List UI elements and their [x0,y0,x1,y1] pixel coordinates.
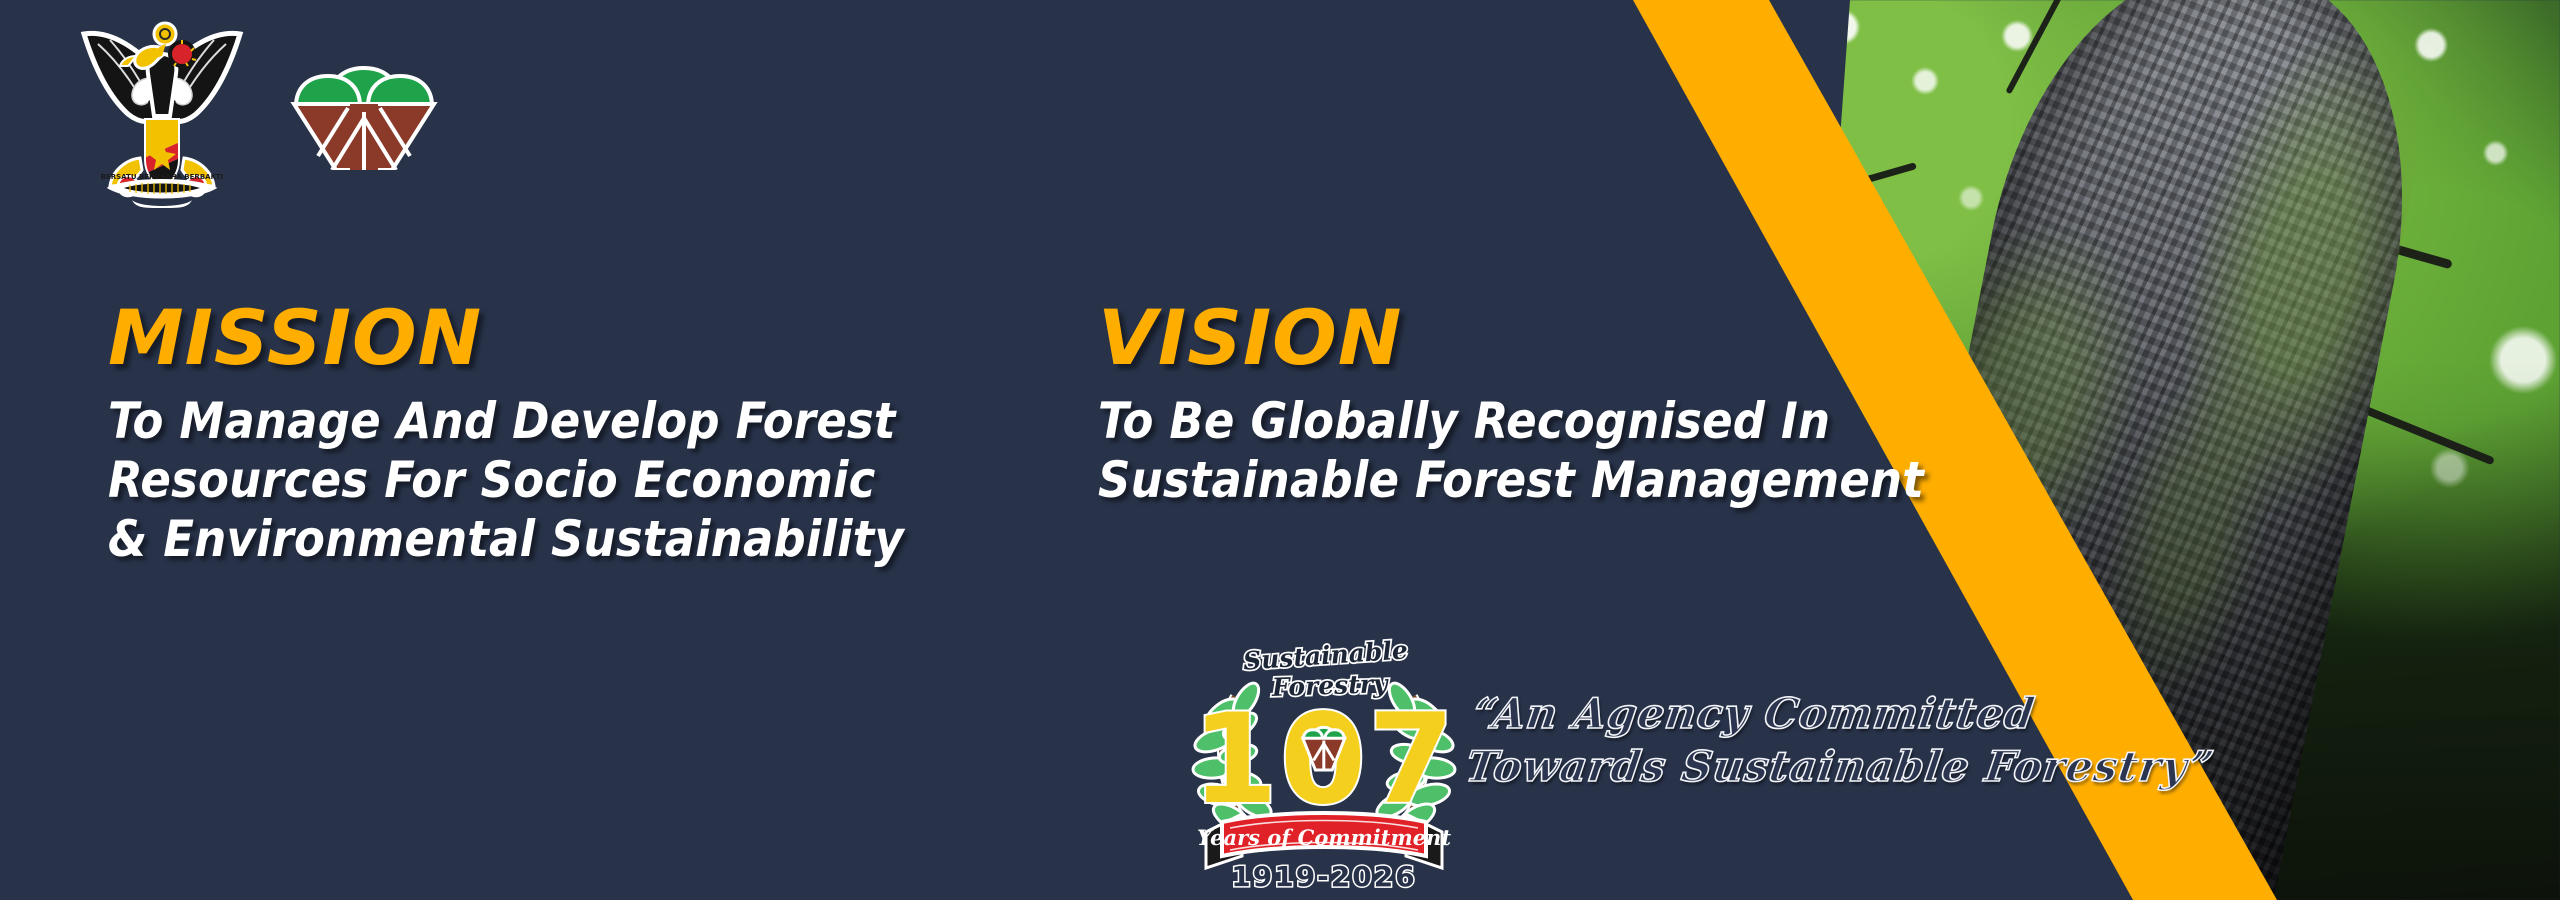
sarawak-state-crest-icon: BERSATU BERUSAHA BERBAKTI [62,8,262,208]
forest-department-tree-logo-icon [288,30,440,170]
mission-statement: To Manage And Develop Forest Resources F… [108,392,1008,569]
mission-line-3: & Environmental Sustainability [108,510,1008,569]
crest-motto: BERSATU BERUSAHA BERBAKTI [101,173,224,181]
anniversary-emblem: Sustainable Forestry 107 [1188,618,1460,893]
emblem-years: 1919-2026 [1231,860,1416,893]
vision-heading: VISION [1098,300,2028,376]
tagline-line-1: “An Agency Committed [1470,688,2117,741]
emblem-ribbon-text: Years of Commitment [1197,825,1451,850]
vision-line-1: To Be Globally Recognised In [1098,392,2028,451]
vision-statement: To Be Globally Recognised In Sustainable… [1098,392,2028,510]
mission-vision-banner: BERSATU BERUSAHA BERBAKTI [0,0,2560,900]
vision-block: VISION To Be Globally Recognised In Sust… [1098,300,2028,510]
mission-heading: MISSION [108,300,1008,376]
tagline-line-2: Towards Sustainable Forestry” [1463,741,2110,794]
mission-line-1: To Manage And Develop Forest [108,392,1008,451]
anniversary-emblem-icon: Sustainable Forestry 107 [1188,618,1460,893]
vision-line-2: Sustainable Forest Management [1098,451,2028,510]
logo-row: BERSATU BERUSAHA BERBAKTI [62,8,440,208]
mission-block: MISSION To Manage And Develop Forest Res… [108,300,1008,569]
tagline: “An Agency Committed Towards Sustainable… [1463,688,2118,794]
mission-line-2: Resources For Socio Economic [108,451,1008,510]
